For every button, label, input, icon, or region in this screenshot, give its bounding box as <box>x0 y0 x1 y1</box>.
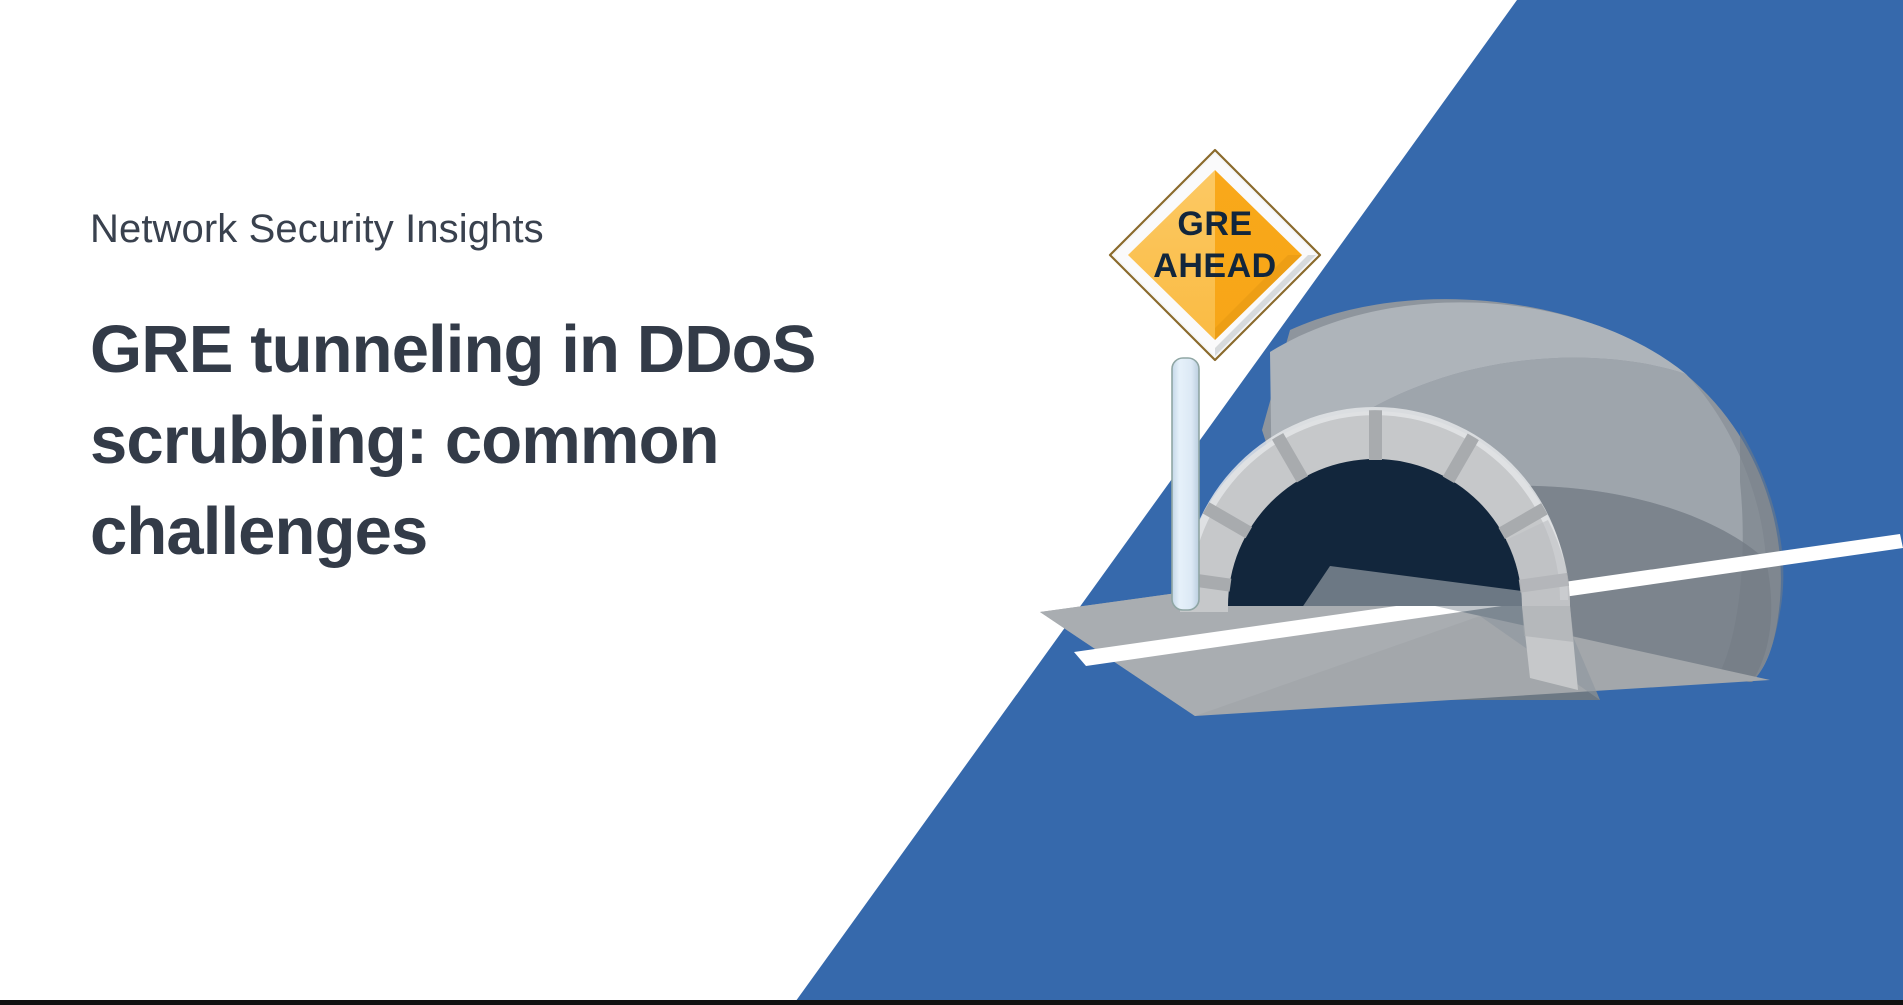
sign-post <box>1172 358 1199 610</box>
eyebrow-label: Network Security Insights <box>90 206 850 252</box>
svg-text:AHEAD: AHEAD <box>1153 247 1276 285</box>
slide-canvas: GRE AHEAD Network Security Insights GRE … <box>0 0 1903 1005</box>
svg-text:GRE: GRE <box>1177 205 1252 243</box>
bottom-divider <box>0 1000 1903 1005</box>
headline-block: Network Security Insights GRE tunneling … <box>90 206 850 577</box>
page-title: GRE tunneling in DDoS scrubbing: common … <box>90 304 850 577</box>
